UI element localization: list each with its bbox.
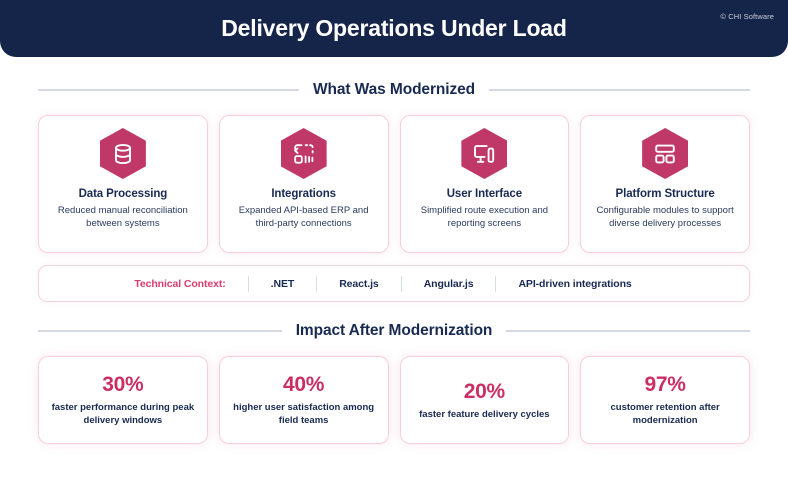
divider-line-right	[506, 330, 750, 332]
section-heading-impact: Impact After Modernization	[38, 316, 750, 346]
stat-description: higher user satisfaction among field tea…	[228, 401, 380, 427]
tech-item-angularjs: Angular.js	[401, 276, 496, 292]
tech-item-api-driven-integrations: API-driven integrations	[495, 276, 653, 292]
tech-item-dotnet: .NET	[248, 276, 317, 292]
tech-item-reactjs: React.js	[316, 276, 400, 292]
section-title-modernized: What Was Modernized	[313, 81, 475, 99]
modules-layout-icon	[642, 128, 688, 179]
stat-card-retention[interactable]: 97% customer retention after modernizati…	[580, 356, 750, 444]
feature-card-title: User Interface	[447, 188, 522, 200]
section-title-impact: Impact After Modernization	[296, 322, 493, 340]
stat-value: 40%	[283, 373, 324, 397]
impact-stats-row: 30% faster performance during peak deliv…	[38, 356, 750, 444]
feature-card-title: Platform Structure	[616, 188, 715, 200]
stat-description: customer retention after modernization	[589, 401, 741, 427]
database-icon	[100, 128, 146, 179]
feature-cards-row: Data Processing Reduced manual reconcili…	[38, 115, 750, 253]
section-heading-modernized: What Was Modernized	[38, 75, 750, 105]
feature-card-description: Configurable modules to support diverse …	[590, 204, 740, 230]
page-header: Delivery Operations Under Load © CHI Sof…	[0, 0, 788, 57]
feature-card-title: Data Processing	[79, 188, 168, 200]
stat-description: faster performance during peak delivery …	[47, 401, 199, 427]
stat-description: faster feature delivery cycles	[419, 408, 549, 421]
feature-card-description: Simplified route execution and reporting…	[410, 204, 560, 230]
stat-value: 30%	[102, 373, 143, 397]
feature-card-title: Integrations	[271, 188, 336, 200]
feature-card-description: Expanded API-based ERP and third-party c…	[229, 204, 379, 230]
stat-card-satisfaction[interactable]: 40% higher user satisfaction among field…	[219, 356, 389, 444]
stat-card-feature-delivery[interactable]: 20% faster feature delivery cycles	[400, 356, 570, 444]
divider-line-left	[38, 330, 282, 332]
feature-card-data-processing[interactable]: Data Processing Reduced manual reconcili…	[38, 115, 208, 253]
monitor-device-icon	[461, 128, 507, 179]
divider-line-right	[489, 89, 750, 91]
stat-card-performance[interactable]: 30% faster performance during peak deliv…	[38, 356, 208, 444]
divider-line-left	[38, 89, 299, 91]
feature-card-description: Reduced manual reconciliation between sy…	[48, 204, 198, 230]
feature-card-user-interface[interactable]: User Interface Simplified route executio…	[400, 115, 570, 253]
page-title: Delivery Operations Under Load	[221, 15, 566, 42]
stat-value: 20%	[464, 380, 505, 404]
integrations-icon	[281, 128, 327, 179]
feature-card-platform-structure[interactable]: Platform Structure Configurable modules …	[580, 115, 750, 253]
technical-context-bar: Technical Context: .NET React.js Angular…	[38, 265, 750, 302]
technical-context-label: Technical Context:	[134, 278, 247, 290]
feature-card-integrations[interactable]: Integrations Expanded API-based ERP and …	[219, 115, 389, 253]
stat-value: 97%	[645, 373, 686, 397]
copyright-notice: © CHI Software	[720, 12, 774, 21]
